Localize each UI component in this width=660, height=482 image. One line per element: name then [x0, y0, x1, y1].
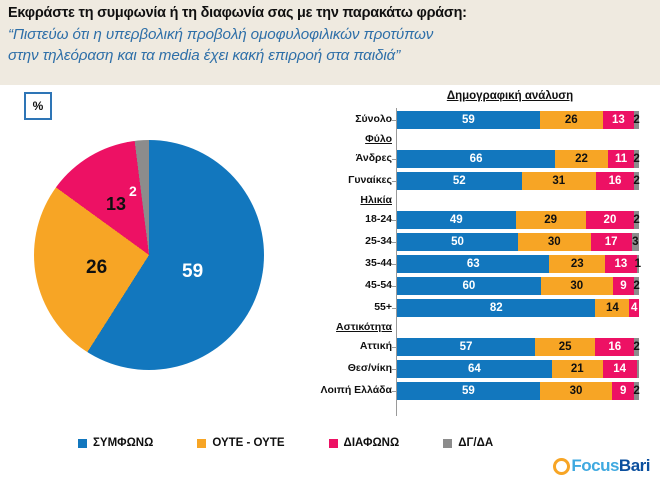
bar-segment-disagree: 9	[612, 382, 634, 400]
bar-row: Γυναίκες5231162	[330, 171, 660, 191]
axis-tick	[392, 369, 396, 370]
bar-segment-disagree: 13	[603, 111, 634, 129]
bar-group-heading: Αστικότητα	[330, 320, 660, 336]
bar-segment-agree: 52	[397, 172, 522, 190]
bar-segment-disagree: 14	[603, 360, 637, 378]
circle-o-icon	[553, 458, 570, 475]
axis-tick	[392, 181, 396, 182]
demographic-analysis-panel: Δημογραφική ανάλυση Σύνολο5926132ΦύλοΆνδ…	[330, 88, 660, 418]
bar-row: 45-54603092	[330, 276, 660, 296]
legend-swatch-icon	[78, 439, 87, 448]
legend-swatch-icon	[329, 439, 338, 448]
header-banner: Εκφράστε τη συμφωνία ή τη διαφωνία σας μ…	[0, 0, 660, 85]
bar-group-label: Φύλο	[272, 133, 392, 145]
bar-row-label: 55+	[272, 301, 392, 313]
bar-row: Θεσ/νίκη642114	[330, 359, 660, 379]
bar-row-label: 45-54	[272, 279, 392, 291]
bar-segment-neither: 25	[535, 338, 596, 356]
bar-segment-dk: 2	[634, 382, 639, 400]
pie-slice-label-disagree: 13	[106, 195, 126, 213]
bar-segment-agree: 82	[397, 299, 595, 317]
bar-segment-disagree: 4	[629, 299, 639, 317]
bar-row: 55+82144	[330, 298, 660, 318]
pie-slice-label-agree: 59	[182, 262, 203, 281]
axis-tick	[392, 308, 396, 309]
chart-legend: ΣΥΜΦΩΝΩΟΥΤΕ - ΟΥΤΕΔΙΑΦΩΝΩΔΓ/ΔΑ	[0, 432, 660, 454]
axis-tick	[392, 159, 396, 160]
legend-label: ΔΓ/ΔΑ	[458, 437, 493, 449]
bar-segment-neither: 30	[518, 233, 591, 251]
legend-item[interactable]: ΣΥΜΦΩΝΩ	[78, 437, 153, 449]
bar-row: Λοιπή Ελλάδα593092	[330, 381, 660, 401]
bar-track: 5725162	[397, 338, 639, 356]
legend-swatch-icon	[443, 439, 452, 448]
bar-segment-neither: 30	[541, 277, 613, 295]
bar-row-label: Θεσ/νίκη	[272, 362, 392, 374]
bar-segment-dk: 2	[634, 150, 639, 168]
legend-label: ΔΙΑΦΩΝΩ	[344, 437, 400, 449]
pie-chart: 59 26 13 2	[34, 140, 264, 370]
axis-tick	[392, 264, 396, 265]
bar-row-label: Γυναίκες	[272, 174, 392, 186]
logo-text-focus: Focus	[571, 456, 619, 476]
axis-tick	[392, 242, 396, 243]
bar-track: 5030173	[397, 233, 639, 251]
bar-track: 642114	[397, 360, 639, 378]
bar-segment-agree: 64	[397, 360, 552, 378]
bar-row: Άνδρες6622112	[330, 149, 660, 169]
legend-label: ΣΥΜΦΩΝΩ	[93, 437, 153, 449]
bar-segment-agree: 59	[397, 111, 540, 129]
bar-row-label: Άνδρες	[272, 152, 392, 164]
bar-group-label: Ηλικία	[272, 194, 392, 206]
bar-track: 5926132	[397, 111, 639, 129]
bar-segment-neither: 31	[522, 172, 596, 190]
bar-row: 35-446323131	[330, 254, 660, 274]
bar-row-label: Σύνολο	[272, 113, 392, 125]
quote-line-2: στην τηλεόραση και τα media έχει κακή επ…	[8, 46, 652, 66]
bar-segment-disagree: 17	[591, 233, 632, 251]
logo-text-bari: Bari	[619, 456, 650, 476]
bar-segment-dk: 1	[637, 255, 639, 273]
page-title: Εκφράστε τη συμφωνία ή τη διαφωνία σας μ…	[8, 4, 652, 23]
bar-segment-dk: 2	[634, 277, 639, 295]
stacked-bar-chart: Σύνολο5926132ΦύλοΆνδρες6622112Γυναίκες52…	[330, 108, 660, 418]
percent-unit-badge: %	[24, 92, 52, 120]
legend-swatch-icon	[197, 439, 206, 448]
bar-group-heading: Ηλικία	[330, 193, 660, 209]
bar-segment-neither: 22	[555, 150, 608, 168]
bar-segment-neither: 23	[549, 255, 605, 273]
demographic-analysis-title: Δημογραφική ανάλυση	[400, 90, 620, 102]
bar-group-label: Αστικότητα	[272, 321, 392, 333]
bar-track: 82144	[397, 299, 639, 317]
bar-segment-dk: 2	[634, 338, 639, 356]
pie-slice-label-neither: 26	[86, 258, 107, 277]
bar-segment-neither: 26	[540, 111, 603, 129]
bar-row-label: Λοιπή Ελλάδα	[272, 384, 392, 396]
bar-group-heading: Φύλο	[330, 132, 660, 148]
bar-track: 6622112	[397, 150, 639, 168]
bar-row-label: 18-24	[272, 213, 392, 225]
bar-segment-neither: 30	[540, 382, 613, 400]
bar-segment-agree: 63	[397, 255, 549, 273]
axis-tick	[392, 347, 396, 348]
bar-segment-agree: 66	[397, 150, 555, 168]
bar-segment-disagree: 11	[608, 150, 634, 168]
bar-row: Σύνολο5926132	[330, 110, 660, 130]
bar-segment-dk: 2	[634, 211, 639, 229]
bar-row: 25-345030173	[330, 232, 660, 252]
bar-track: 4929202	[397, 211, 639, 229]
pie-chart-disc	[34, 140, 264, 370]
bar-track: 5231162	[397, 172, 639, 190]
legend-item[interactable]: ΔΓ/ΔΑ	[443, 437, 493, 449]
legend-item[interactable]: ΔΙΑΦΩΝΩ	[329, 437, 400, 449]
bar-segment-neither: 14	[595, 299, 629, 317]
bar-row: 18-244929202	[330, 210, 660, 230]
bar-segment-disagree: 13	[605, 255, 636, 273]
axis-tick	[392, 391, 396, 392]
bar-segment-disagree: 20	[586, 211, 634, 229]
legend-label: ΟΥΤΕ - ΟΥΤΕ	[212, 437, 284, 449]
axis-tick	[392, 120, 396, 121]
bar-row-label: Αττική	[272, 340, 392, 352]
axis-tick	[392, 220, 396, 221]
bar-row-label: 25-34	[272, 235, 392, 247]
bar-segment-disagree: 9	[613, 277, 635, 295]
axis-tick	[392, 286, 396, 287]
pie-slice-label-dk: 2	[129, 184, 137, 198]
bar-segment-agree: 49	[397, 211, 516, 229]
focusbari-logo: FocusBari	[553, 456, 650, 476]
bar-segment-agree: 57	[397, 338, 535, 356]
quote-line-1: “Πιστεύω ότι η υπερβολική προβολή ομοφυλ…	[8, 25, 652, 45]
bar-row: Αττική5725162	[330, 337, 660, 357]
bar-segment-disagree: 16	[595, 338, 634, 356]
bar-segment-dk: 3	[632, 233, 639, 251]
bar-segment-agree: 59	[397, 382, 540, 400]
bar-row-label: 35-44	[272, 257, 392, 269]
bar-segment-dk	[637, 360, 639, 378]
bar-segment-agree: 50	[397, 233, 518, 251]
legend-item[interactable]: ΟΥΤΕ - ΟΥΤΕ	[197, 437, 284, 449]
bar-segment-agree: 60	[397, 277, 541, 295]
bar-segment-neither: 21	[552, 360, 603, 378]
bar-track: 603092	[397, 277, 639, 295]
bar-segment-dk: 2	[634, 111, 639, 129]
bar-segment-disagree: 16	[596, 172, 634, 190]
bar-track: 593092	[397, 382, 639, 400]
bar-track: 6323131	[397, 255, 639, 273]
bar-segment-dk: 2	[634, 172, 639, 190]
bar-segment-neither: 29	[516, 211, 586, 229]
